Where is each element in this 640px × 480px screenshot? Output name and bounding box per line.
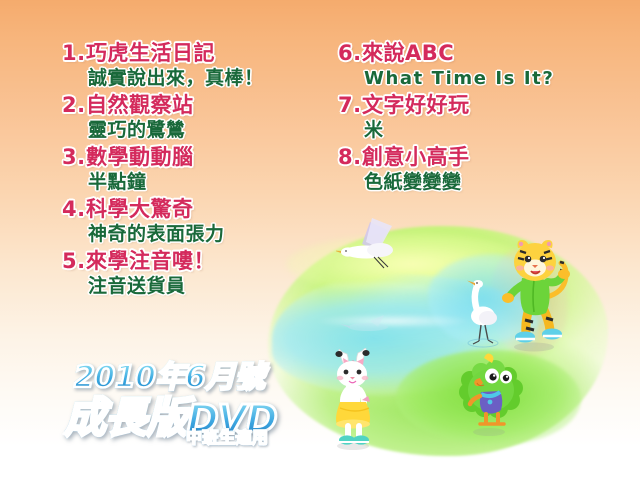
episode-number-5: 5. <box>62 249 86 274</box>
episode-entry-6[interactable]: 6.來說ABC What Time Is It? <box>338 41 618 91</box>
episode-entry-2[interactable]: 2.自然觀察站 靈巧的鷺鷥 <box>62 93 327 143</box>
dvd-audience-note: 中班生適用 <box>186 424 269 448</box>
episode-title-8: 8.創意小高手 <box>338 145 618 170</box>
episode-subtitle-1: 誠實說出來，真棒！ <box>88 66 327 91</box>
episode-entry-3[interactable]: 3.數學動動腦 半點鐘 <box>62 145 327 195</box>
episode-entry-4[interactable]: 4.科學大驚奇 神奇的表面張力 <box>62 197 327 247</box>
episode-column-right: 6.來說ABC What Time Is It? 7.文字好好玩 米 8.創意小… <box>338 41 618 197</box>
episode-number-2: 2. <box>62 93 86 118</box>
episode-number-1: 1. <box>62 41 86 66</box>
episode-subtitle-4: 神奇的表面張力 <box>88 222 327 247</box>
episode-number-4: 4. <box>62 197 86 222</box>
dvd-edition-cn: 成長版 <box>64 393 187 442</box>
episode-subtitle-3: 半點鐘 <box>88 170 327 195</box>
episode-title-2: 2.自然觀察站 <box>62 93 327 118</box>
dvd-title-block: 2010年6月號 成長版DVD 中班生適用 <box>64 352 304 448</box>
episode-title-text-7: 文字好好玩 <box>362 93 470 117</box>
dvd-menu-screen: 1.巧虎生活日記 誠實說出來，真棒！ 2.自然觀察站 靈巧的鷺鷥 3.數學動動腦… <box>0 0 640 480</box>
episode-title-text-8: 創意小高手 <box>362 145 470 169</box>
episode-title-text-4: 科學大驚奇 <box>86 197 194 221</box>
episode-column-left: 1.巧虎生活日記 誠實說出來，真棒！ 2.自然觀察站 靈巧的鷺鷥 3.數學動動腦… <box>62 41 327 301</box>
episode-title-text-5: 來學注音嘍！ <box>86 249 215 273</box>
episode-title-text-6: 來說ABC <box>362 41 454 65</box>
episode-number-8: 8. <box>338 145 362 170</box>
episode-number-3: 3. <box>62 145 86 170</box>
episode-subtitle-5: 注音送貨員 <box>88 274 327 299</box>
episode-entry-1[interactable]: 1.巧虎生活日記 誠實說出來，真棒！ <box>62 41 327 91</box>
episode-entry-8[interactable]: 8.創意小高手 色紙變變變 <box>338 145 618 195</box>
episode-title-3: 3.數學動動腦 <box>62 145 327 170</box>
episode-title-6: 6.來說ABC <box>338 41 618 66</box>
episode-title-1: 1.巧虎生活日記 <box>62 41 327 66</box>
episode-entry-7[interactable]: 7.文字好好玩 米 <box>338 93 618 143</box>
episode-title-text-3: 數學動動腦 <box>86 145 194 169</box>
episode-title-text-2: 自然觀察站 <box>86 93 194 117</box>
episode-subtitle-6: What Time Is It? <box>364 66 618 91</box>
episode-title-5: 5.來學注音嘍！ <box>62 249 327 274</box>
episode-number-7: 7. <box>338 93 362 118</box>
episode-title-text-1: 巧虎生活日記 <box>86 41 215 65</box>
episode-title-7: 7.文字好好玩 <box>338 93 618 118</box>
episode-subtitle-8: 色紙變變變 <box>364 170 618 195</box>
episode-subtitle-7: 米 <box>364 118 618 143</box>
episode-number-6: 6. <box>338 41 362 66</box>
episode-subtitle-2: 靈巧的鷺鷥 <box>88 118 327 143</box>
episode-entry-5[interactable]: 5.來學注音嘍！ 注音送貨員 <box>62 249 327 299</box>
episode-title-4: 4.科學大驚奇 <box>62 197 327 222</box>
